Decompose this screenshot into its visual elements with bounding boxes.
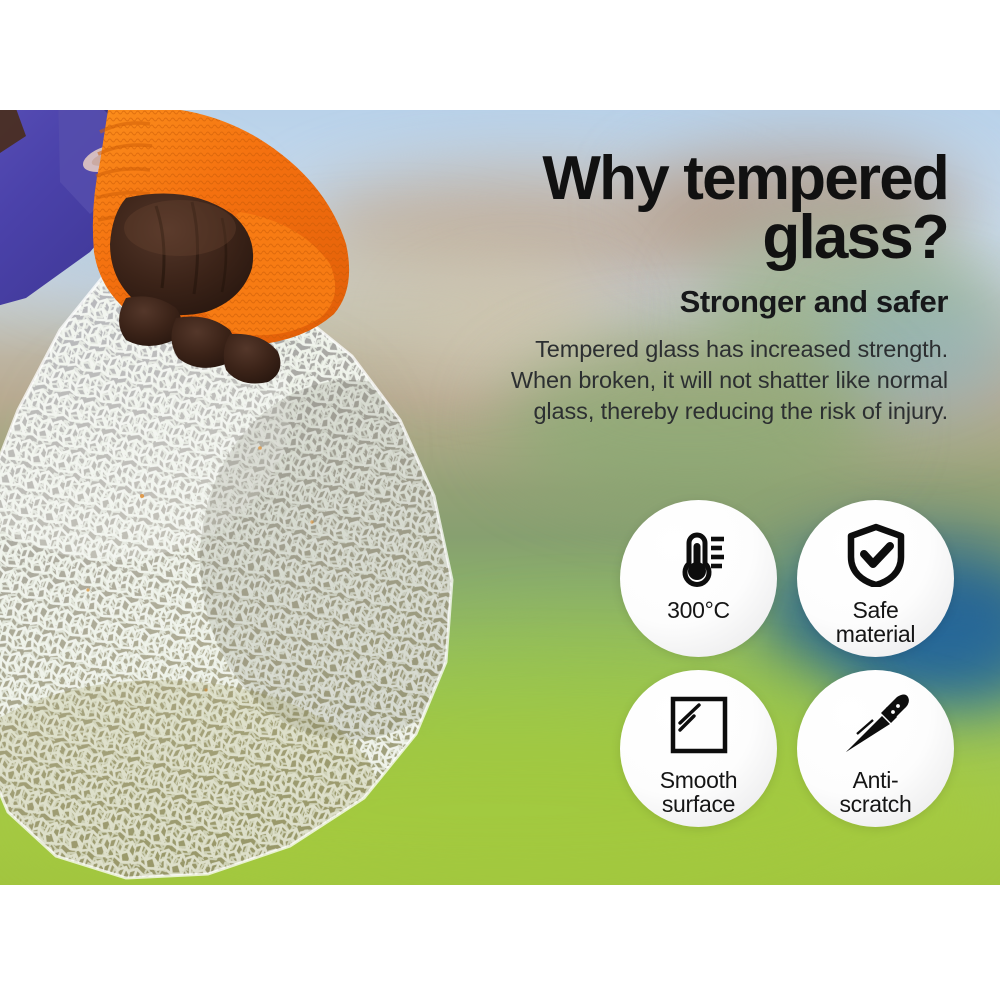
shield-check-icon	[845, 514, 907, 596]
glass-pane-icon	[668, 684, 730, 766]
badge-label: Anti- scratch	[839, 768, 911, 817]
badge-label: Safe material	[836, 598, 915, 647]
thermometer-icon	[667, 514, 731, 596]
product-feature-image: Why tempered glass? Stronger and safer T…	[0, 0, 1000, 1000]
badge-label-line-1: Smooth	[660, 767, 737, 793]
badge-label-line-2: material	[836, 621, 915, 647]
gloved-hand	[0, 110, 370, 432]
badge-label-line-2: scratch	[839, 791, 911, 817]
badge-temperature: 300°C	[620, 500, 777, 657]
badge-anti-scratch: Anti- scratch	[797, 670, 954, 827]
feature-badges: 300°C Safe material	[620, 500, 970, 850]
badge-smooth-surface: Smooth surface	[620, 670, 777, 827]
badge-label: 300°C	[667, 598, 730, 622]
badge-label-line-1: Safe	[852, 597, 898, 623]
headline-block: Why tempered glass? Stronger and safer T…	[468, 150, 948, 428]
subtitle: Stronger and safer	[468, 284, 948, 320]
body-paragraph: Tempered glass has increased strength. W…	[468, 334, 948, 428]
badge-label: Smooth surface	[660, 768, 737, 817]
badge-label-line-2: surface	[662, 791, 735, 817]
page-title: Why tempered glass?	[468, 150, 948, 268]
badge-safe-material: Safe material	[797, 500, 954, 657]
knife-icon	[841, 684, 911, 766]
headline-line-2: glass?	[468, 209, 948, 268]
badge-label-line-1: Anti-	[853, 767, 899, 793]
